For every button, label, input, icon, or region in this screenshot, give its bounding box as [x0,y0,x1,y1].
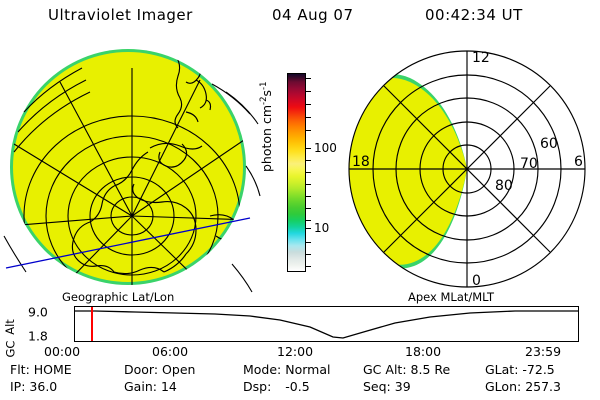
status-dsp: Dsp: -0.5 [243,379,310,394]
status-flight-value: HOME [34,362,72,377]
mlt-label-18: 18 [352,154,370,170]
status-glon-value: 257.3 [525,379,561,394]
colorbar-tick [306,242,311,243]
status-dsp-label: Dsp: [243,379,271,394]
status-glat-value: -72.5 [522,362,554,377]
status-gc-alt-label: GC Alt: [363,362,407,377]
status-ip-value: 36.0 [29,379,57,394]
status-door-value: Open [162,362,195,377]
colorbar-tick [306,104,311,105]
status-gain-value: 14 [161,379,177,394]
colorbar-gradient [287,73,306,272]
status-seq: Seq: 39 [363,379,411,394]
apex-panel-caption: Apex MLat/MLT [408,290,494,304]
colorbar-tick [306,184,311,185]
colorbar-tick [306,117,311,118]
colorbar-tick-major [306,148,311,149]
altitude-ytick-max: 9.0 [28,305,48,320]
mlat-label-70: 70 [520,156,538,172]
status-flight: Flt: HOME [10,362,72,377]
geographic-panel-caption: Geographic Lat/Lon [62,290,174,304]
mlat-label-60: 60 [540,136,558,152]
colorbar-label-10: 10 [314,221,329,235]
colorbar-tick [306,254,311,255]
mlt-label-12: 12 [472,50,490,66]
mlt-label-0: 0 [472,273,481,289]
status-glon-label: GLon: [485,379,521,394]
status-dsp-value: -0.5 [285,379,309,394]
colorbar-tick-major [306,228,311,229]
status-ip: IP: 36.0 [10,379,57,394]
colorbar-tick [306,208,311,209]
status-flight-label: Flt: [10,362,30,377]
status-seq-value: 39 [395,379,411,394]
current-time-marker [91,307,93,341]
header-bar: Ultraviolet Imager 04 Aug 07 00:42:34 UT [0,6,600,30]
status-gain-label: Gain: [124,379,157,394]
colorbar-tick [306,196,311,197]
colorbar-tick [306,78,311,79]
observation-time: 00:42:34 UT [425,6,523,24]
altitude-curve [75,307,578,341]
status-door: Door: Open [124,362,195,377]
status-glat-label: GLat: [485,362,518,377]
status-seq-label: Seq: [363,379,391,394]
status-glon: GLon: 257.3 [485,379,561,394]
status-gain: Gain: 14 [124,379,177,394]
geographic-image-panel[interactable] [0,40,262,298]
mlt-spokes [349,51,585,287]
colorbar-tick [306,130,311,131]
colorbar-axis-exponent-1: -2 [259,97,269,105]
mlat-label-80: 80 [495,178,513,194]
apex-polar-plot: 12 6 0 18 60 70 80 [336,40,598,298]
altitude-xtick-2359: 23:59 [525,344,561,359]
colorbar-axis-title-text: photon cm [259,105,274,172]
status-gc-alt-value: 8.5 Re [411,362,451,377]
status-ip-label: IP: [10,379,25,394]
altitude-axis-label-top: Alt [3,319,17,335]
altitude-ytick-min: 1.8 [28,329,48,344]
status-door-label: Door: [124,362,158,377]
observation-date: 04 Aug 07 [272,6,354,24]
colorbar-label-100: 100 [314,141,337,155]
status-footer: Flt: HOME Door: Open Mode: Normal GC Alt… [0,362,600,400]
auroral-emission-disc [13,52,243,282]
apex-magnetic-panel[interactable]: 12 6 0 18 60 70 80 [336,40,598,298]
altitude-axis-label-bottom: GC [3,341,17,358]
status-glat: GLat: -72.5 [485,362,555,377]
geographic-polar-plot [0,40,262,298]
status-gc-alt: GC Alt: 8.5 Re [363,362,450,377]
altitude-xtick-1200: 12:00 [277,344,313,359]
status-mode-value: Normal [285,362,330,377]
colorbar-axis-title: photon cm-2s-1 [259,82,274,172]
status-mode: Mode: Normal [243,362,331,377]
colorbar-tick [306,91,311,92]
colorbar-axis-title-mid: s [259,90,274,97]
instrument-title: Ultraviolet Imager [48,6,193,24]
altitude-xtick-1800: 18:00 [405,344,441,359]
colorbar-tick [306,160,311,161]
colorbar-tick [306,266,311,267]
altitude-axis-label: Alt GC [4,308,26,342]
altitude-xtick-0000: 00:00 [44,344,80,359]
status-mode-label: Mode: [243,362,281,377]
colorbar-panel: photon cm-2s-1 100 10 [262,60,336,300]
colorbar-tick [306,220,311,221]
mlt-label-6: 6 [574,154,583,170]
colorbar-tick [306,172,311,173]
colorbar-axis-exponent-2: -1 [259,82,269,90]
altitude-xtick-0600: 06:00 [152,344,188,359]
altitude-time-plot[interactable] [74,306,579,342]
